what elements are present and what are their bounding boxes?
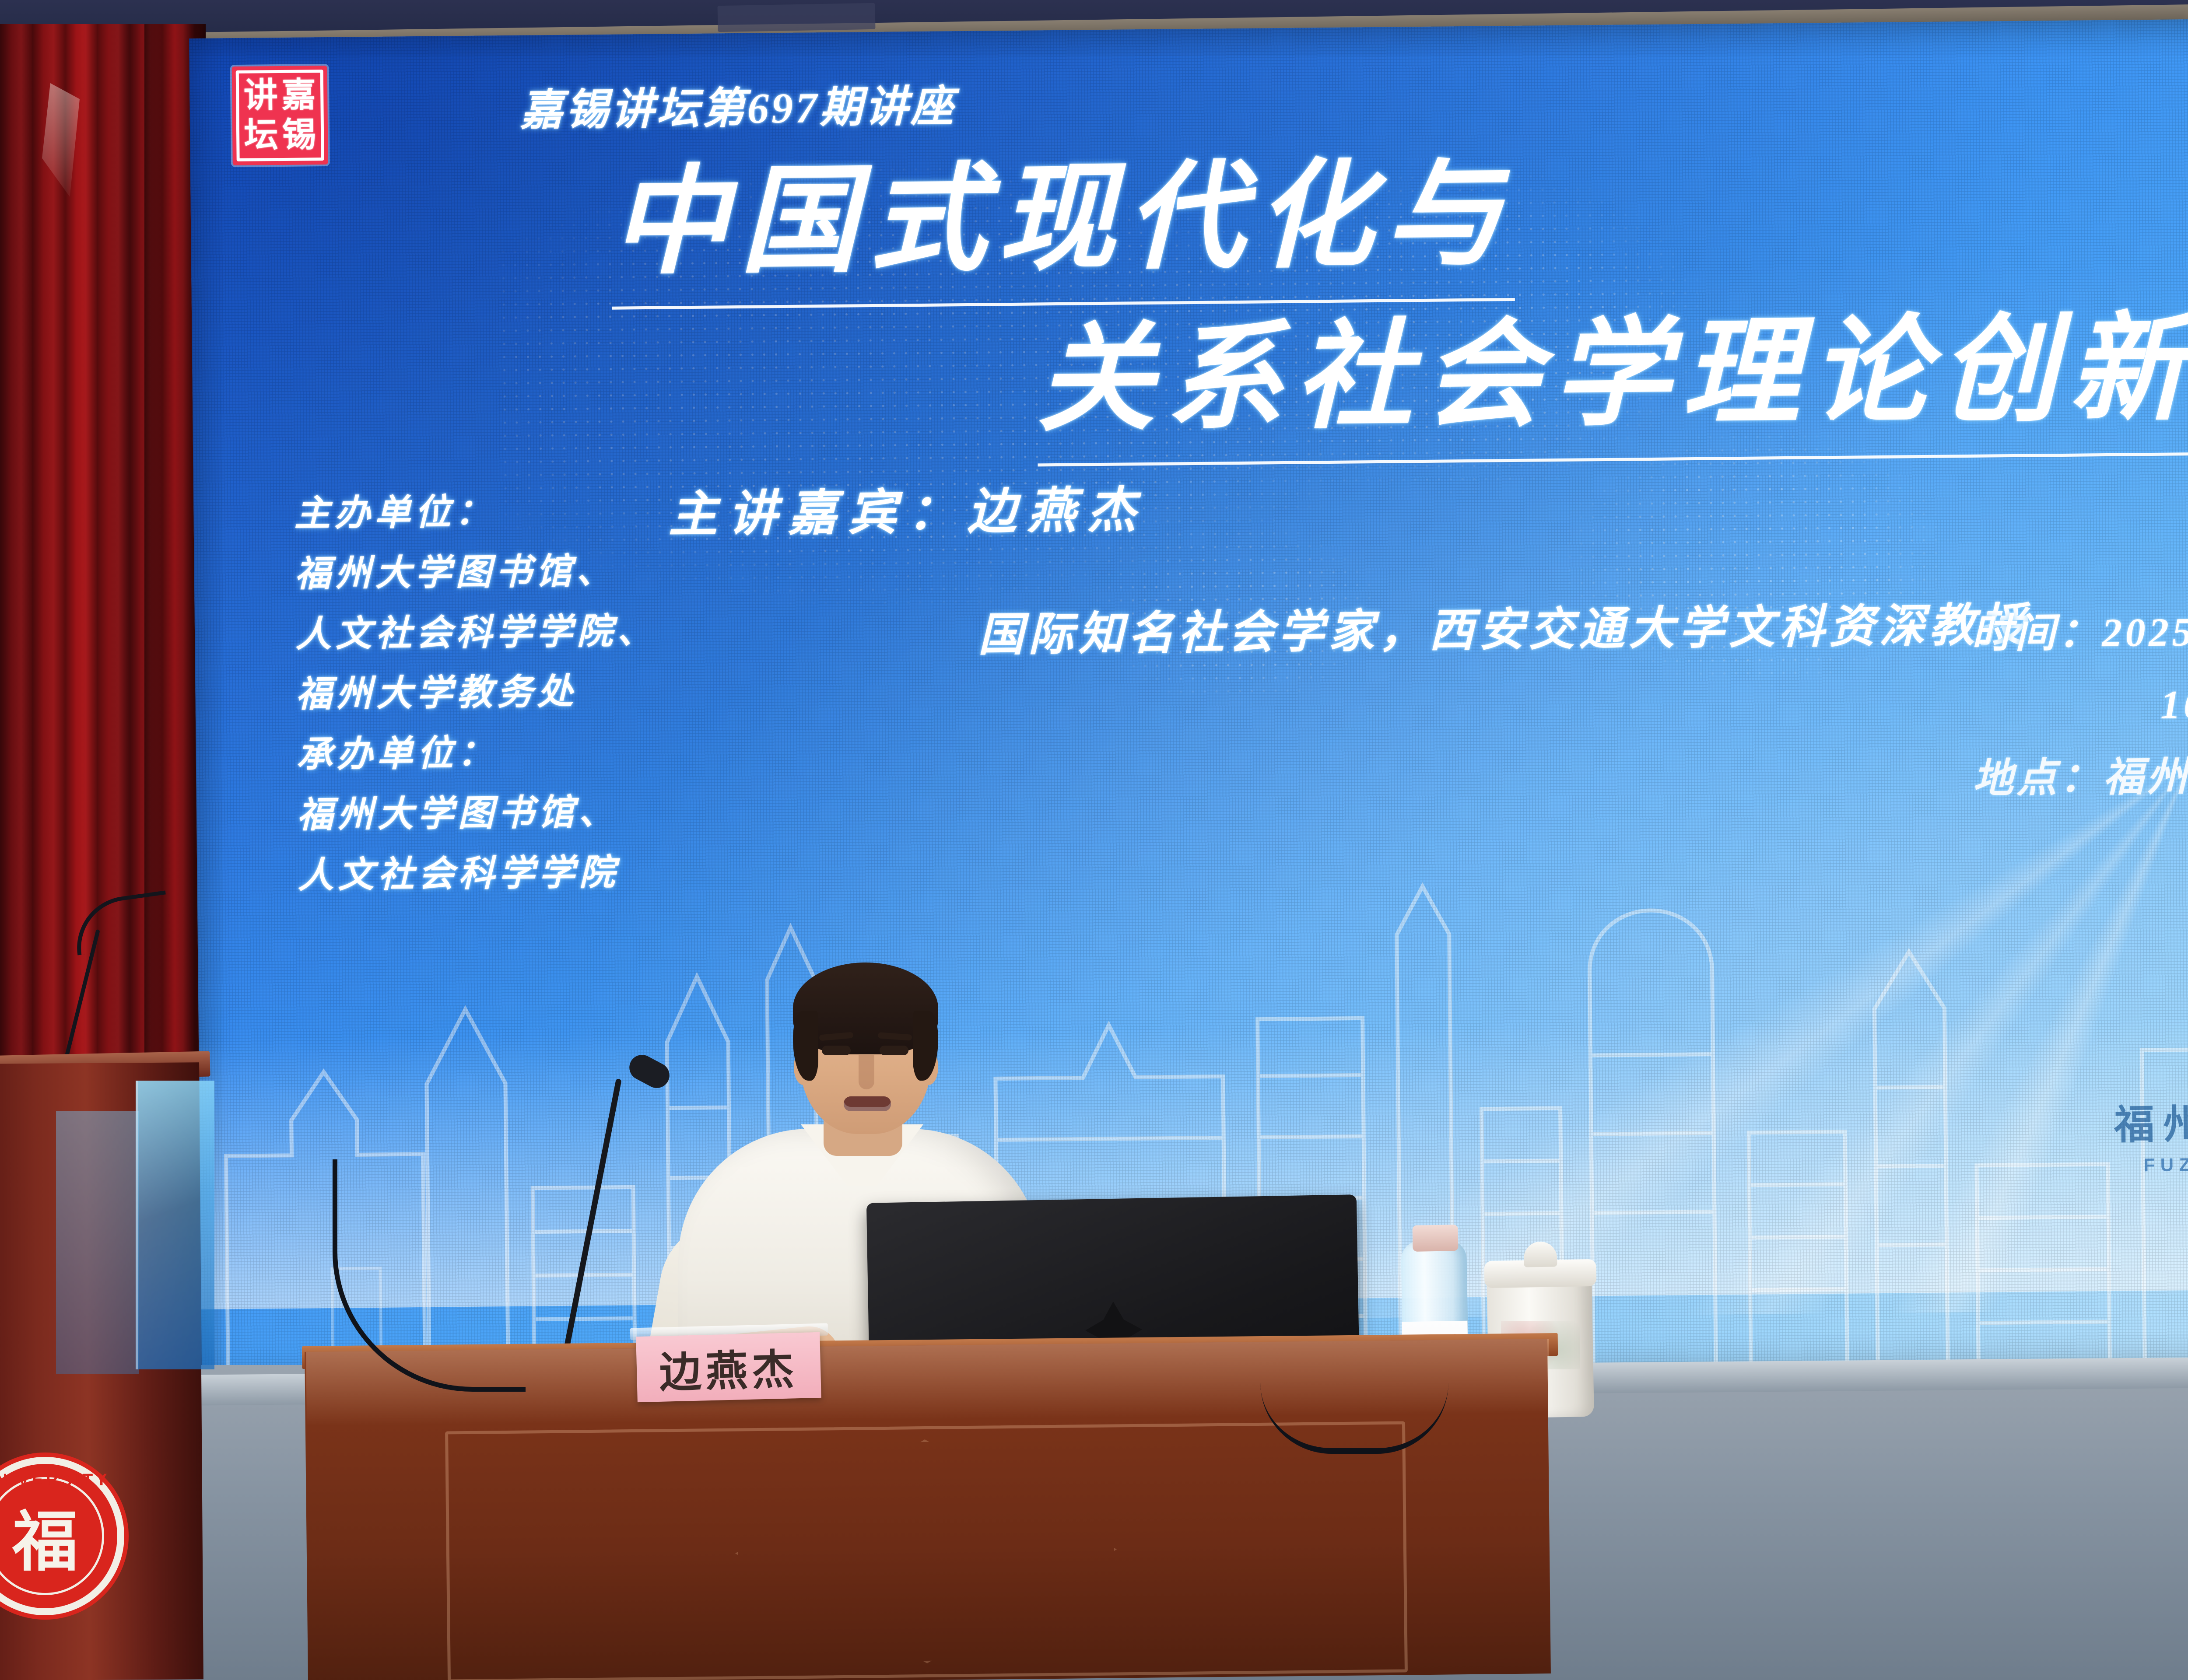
organizer-line-6: 福州大学图书馆、: [297, 782, 659, 846]
fuzhou-university-library-logo: 福州大学图书馆 FUZHOU UNIVERSITY LIBRARY: [2089, 1089, 2188, 1197]
event-location: 地点：福州大学图书馆明德厅: [1973, 738, 2188, 815]
seal-char-4: 锡: [280, 115, 319, 155]
nameplate-text: 边燕杰: [659, 1335, 799, 1400]
speaker-eye-left: [822, 1046, 851, 1055]
fuzhou-university-emblem-icon: UNIVERSITY 福: [0, 1457, 124, 1615]
organizer-line-2: 福州大学图书馆、: [295, 541, 657, 605]
event-date: 时间：2025年5月29日: [1971, 593, 2188, 671]
library-logo-en: FUZHOU UNIVERSITY LIBRARY: [2090, 1151, 2188, 1197]
water-bottle-cap: [1412, 1225, 1458, 1252]
emblem-glyph: 福: [0, 1464, 117, 1608]
jiaxi-forum-seal-icon: 讲 嘉 坛 锡: [232, 66, 328, 165]
speaker-eye-right: [880, 1046, 908, 1055]
organizer-line-1: 主办单位：: [294, 480, 656, 544]
poster-guest-label: 主讲嘉宾：边燕杰: [668, 470, 1147, 546]
seal-char-3: 坛: [242, 115, 281, 156]
podium-glass-panel-inner: [56, 1111, 139, 1374]
seal-char-2: 嘉: [280, 75, 318, 115]
organizer-line-4: 福州大学教务处: [296, 661, 658, 725]
poster-title-line2: 关系社会学理论创新: [1036, 273, 2188, 466]
organizer-line-3: 人文社会科学学院、: [295, 601, 657, 665]
poster-organizers: 主办单位： 福州大学图书馆、 人文社会科学学院、 福州大学教务处 承办单位： 福…: [294, 480, 660, 906]
seal-char-1: 讲: [242, 76, 280, 116]
poster-event-meta: 时间：2025年5月29日 10：20-11:50 地点：福州大学图书馆明德厅: [1971, 593, 2188, 815]
speaker-mouth: [844, 1096, 891, 1111]
organizer-line-7: 人文社会科学学院: [298, 842, 660, 906]
speaker-nameplate: 边燕杰: [636, 1332, 821, 1402]
lecture-hall-photo: 讲 嘉 坛 锡 嘉锡讲坛第697期讲座 中国式现代化与 关系社会学理论创新 主讲…: [0, 0, 2188, 1680]
speaker-nose: [859, 1055, 874, 1089]
poster-guest-credential: 国际知名社会学家，西安交通大学文科资深教授: [978, 588, 2030, 664]
event-time-range: 10：20-11:50: [1972, 665, 2188, 743]
organizer-line-5: 承办单位：: [296, 721, 659, 785]
podium-glass-panel: [136, 1081, 214, 1369]
ceiling-vent: [718, 3, 876, 32]
library-logo-cn: 福州大学图书馆: [2089, 1089, 2188, 1151]
